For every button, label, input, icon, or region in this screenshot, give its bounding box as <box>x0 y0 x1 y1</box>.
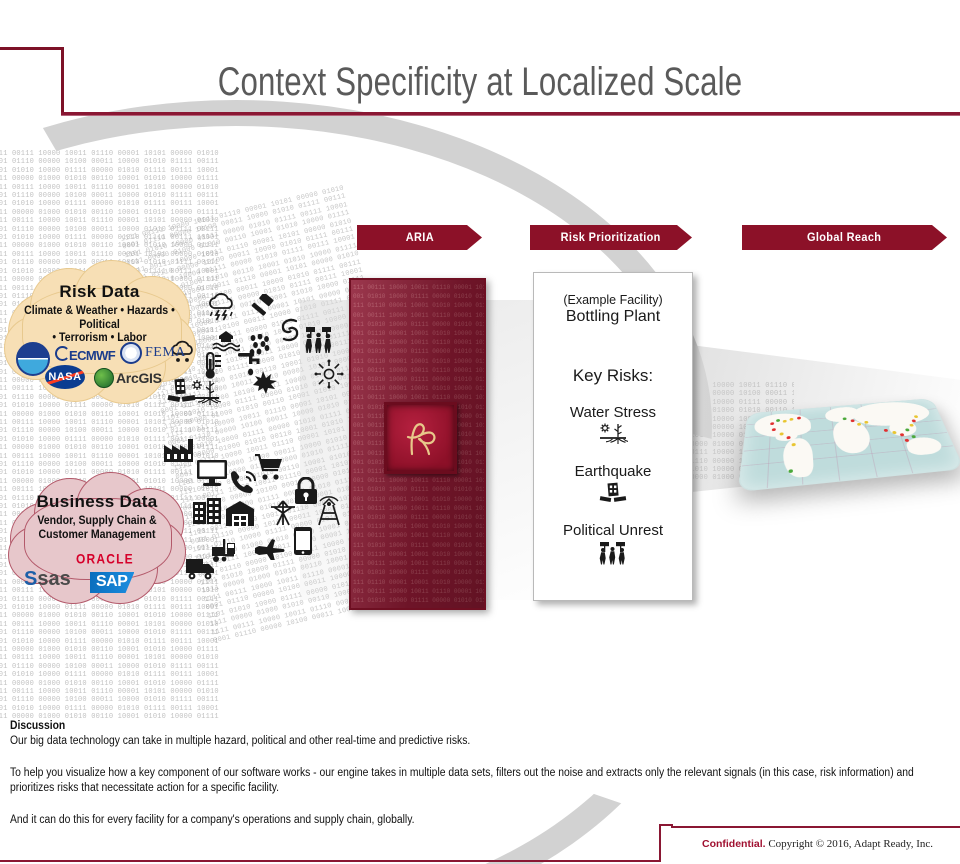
footer-rule-right <box>671 826 960 828</box>
monitor-icon <box>196 459 228 491</box>
airplane-icon <box>254 532 286 564</box>
aria-engine-panel: 111 00111 10000 10011 01110 00001 10101 … <box>349 278 486 610</box>
ecmwf-swirl-icon <box>55 346 70 361</box>
truck-icon <box>185 557 217 585</box>
ecmwf-logo: ECMWF <box>55 346 115 363</box>
world-map-3d <box>738 398 960 492</box>
business-cloud-title-block: Business Data Vendor, Supply Chain & Cus… <box>8 492 186 542</box>
banner-aria[interactable]: ARIA <box>357 225 482 250</box>
sas-logo: Ssas <box>24 568 71 591</box>
noaa-logo <box>16 342 50 376</box>
footer-rule-left <box>0 860 661 862</box>
protesters-icon <box>304 326 334 358</box>
factory-icon <box>163 437 195 467</box>
discussion-block: Discussion Our big data technology can t… <box>10 719 952 828</box>
storm-cloud-icon <box>206 292 238 326</box>
map-pin <box>911 435 916 438</box>
fema-seal-icon <box>120 342 142 364</box>
risk-item-label-earthquake: Earthquake <box>534 463 692 480</box>
gavel-icon <box>248 294 276 326</box>
warehouse-icon <box>225 499 255 531</box>
oracle-logo: ORACLE <box>76 551 134 567</box>
explosion-icon <box>251 369 279 399</box>
spacer <box>10 796 952 813</box>
business-cloud-subtitle-1: Vendor, Supply Chain & <box>15 515 179 529</box>
drought-icon <box>534 423 692 445</box>
map-pin <box>904 439 909 442</box>
sas-swoosh-icon: S <box>24 568 37 590</box>
map-pin <box>911 419 916 422</box>
radiation-hazard-icon <box>314 359 344 393</box>
title-bracket-horizontal <box>0 47 64 50</box>
earthquake-building-icon <box>534 482 692 504</box>
map-pin <box>909 424 914 427</box>
map-pin <box>892 431 897 434</box>
discussion-paragraph-1: Our big data technology can take in mult… <box>10 734 951 749</box>
copyright-label: Copyright © 2016, Adapt Ready, Inc. <box>766 838 933 850</box>
map-land-australia <box>904 436 944 456</box>
adapt-ready-logo-tile <box>384 402 457 474</box>
map-pin <box>914 415 919 418</box>
cell-tower-icon <box>315 496 343 530</box>
facility-name: Bottling Plant <box>534 308 692 326</box>
risk-item-label-water-stress: Water Stress <box>534 404 692 421</box>
discussion-heading: Discussion <box>10 719 858 734</box>
risk-cloud-title: Risk Data <box>2 282 197 302</box>
protesters-icon <box>534 541 692 563</box>
slide-canvas: 1111 00111 10000 10011 01110 00001 10101… <box>0 0 960 864</box>
banner-aria-label: ARIA <box>405 232 433 244</box>
map-pin <box>900 433 905 436</box>
facility-note: (Example Facility) <box>534 293 692 307</box>
key-risks-label: Key Risks: <box>534 366 692 386</box>
fema-logo: FEMA <box>120 342 186 364</box>
shopping-cart-icon <box>254 454 284 486</box>
smartphone-icon <box>293 526 313 560</box>
drought-icon <box>191 379 221 413</box>
banner-global-reach-label: Global Reach <box>807 232 881 244</box>
office-building-icon <box>192 497 222 529</box>
banner-risk-prioritization-label: Risk Prioritization <box>561 232 661 244</box>
business-cloud-title: Business Data <box>8 492 186 512</box>
page-title: Context Specificity at Localized Scale <box>106 60 855 105</box>
risk-cloud-title-block: Risk Data Climate & Weather • Hazards • … <box>2 282 197 346</box>
banner-global-reach[interactable]: Global Reach <box>742 225 947 250</box>
footer-rule-vertical <box>659 824 661 862</box>
spacer <box>10 749 952 766</box>
business-data-cloud: Business Data Vendor, Supply Chain & Cus… <box>8 472 186 604</box>
footer-copyright: Confidential. Copyright © 2016, Adapt Re… <box>675 838 960 850</box>
title-underline-rule-light <box>61 115 960 116</box>
map-pin <box>884 429 889 432</box>
discussion-paragraph-2: To help you visualize how a key componen… <box>10 766 951 796</box>
nasa-logo: NASA <box>45 365 85 389</box>
hurricane-icon <box>276 316 304 348</box>
business-cloud-subtitle-2: Customer Management <box>15 529 179 543</box>
risk-cloud-subtitle-1: Climate & Weather • Hazards • Political <box>10 305 189 332</box>
map-pin <box>905 428 910 431</box>
banner-risk-prioritization[interactable]: Risk Prioritization <box>530 225 692 250</box>
risk-prioritization-panel: (Example Facility) Bottling Plant Key Ri… <box>533 272 693 601</box>
arcgis-logo: ArcGIS <box>94 368 162 388</box>
arcgis-globe-icon <box>94 368 114 388</box>
confidential-label: Confidential. <box>702 838 766 850</box>
adapt-ready-monogram-icon <box>398 416 444 460</box>
map-land-south-america <box>783 437 814 479</box>
risk-item-label-political-unrest: Political Unrest <box>534 522 692 539</box>
title-bracket-vertical <box>61 47 64 115</box>
